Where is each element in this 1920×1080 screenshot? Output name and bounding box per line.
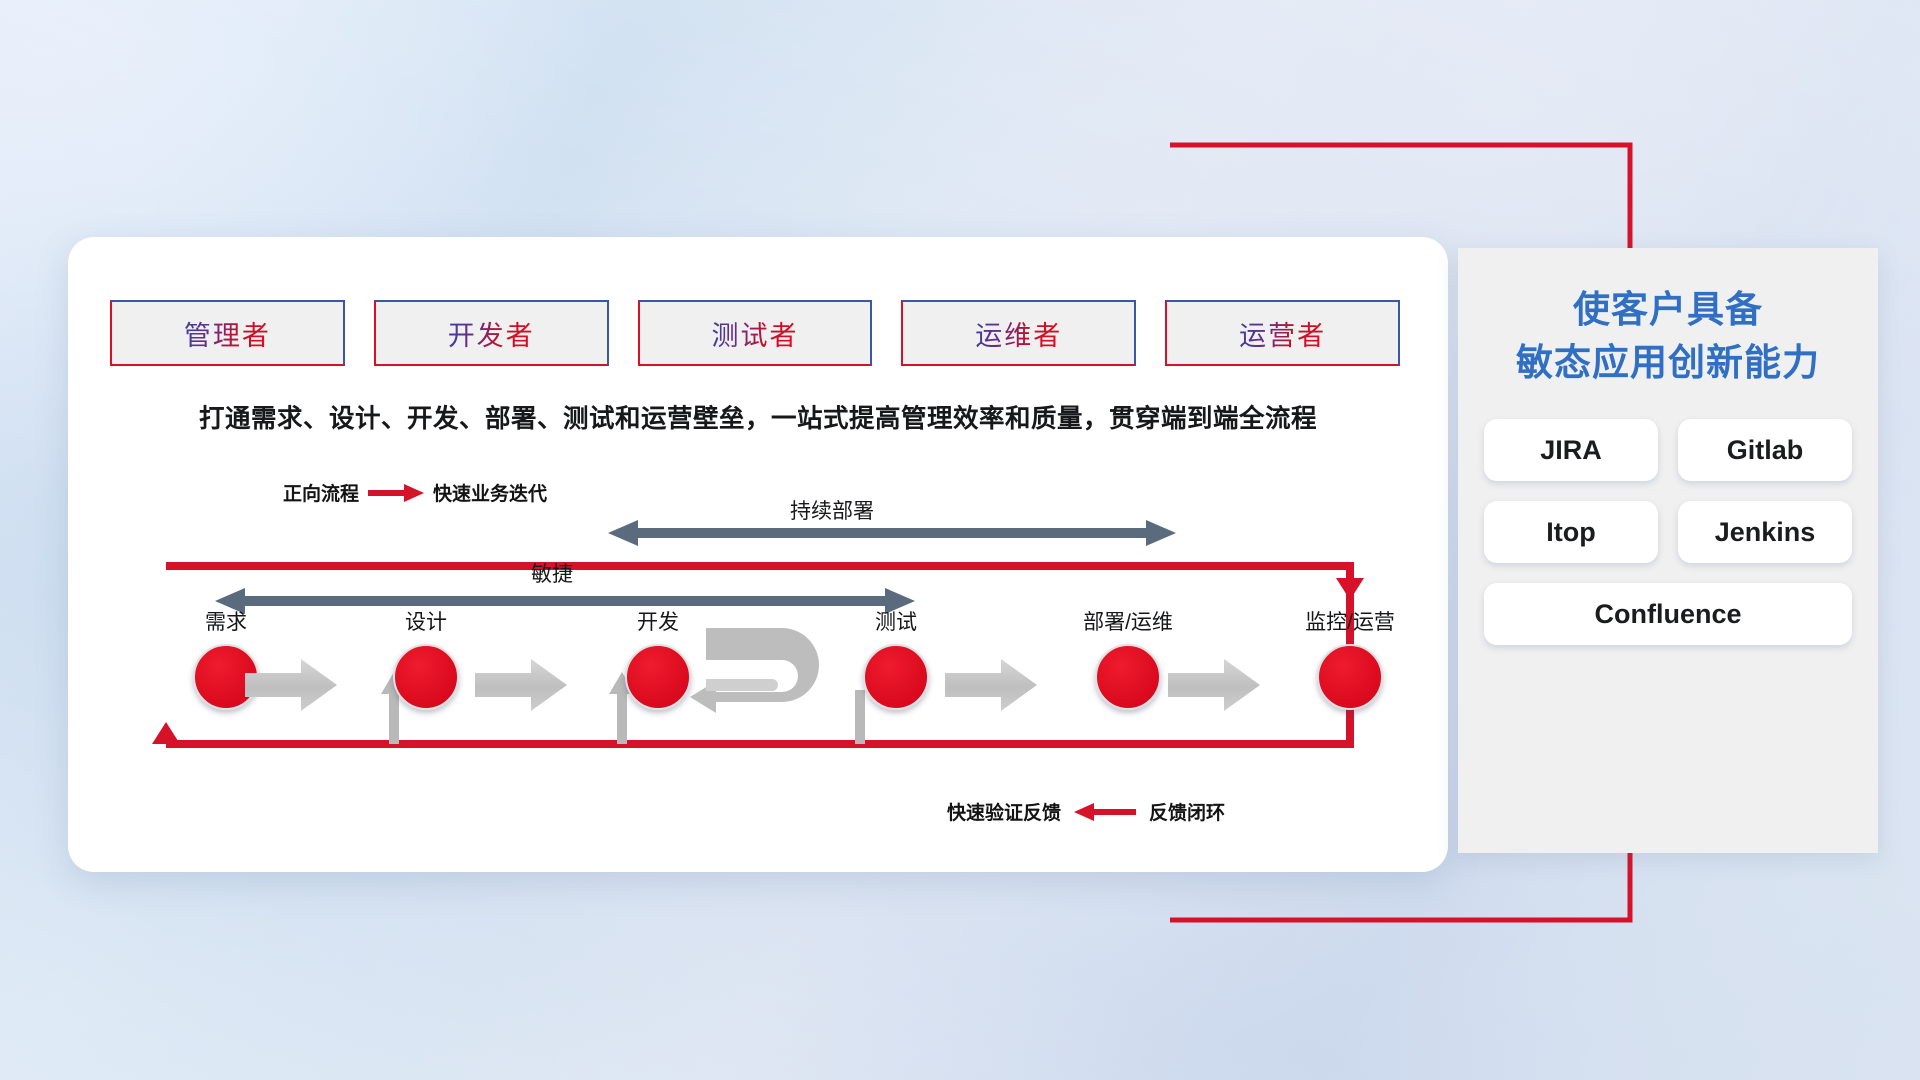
pipeline-stage-3[interactable]: 测试 xyxy=(836,612,956,710)
feedback-left-label: 快速验证反馈 xyxy=(947,798,1061,825)
stage-label: 测试 xyxy=(836,612,956,633)
stage-label: 开发 xyxy=(598,612,718,633)
tool-button-itop[interactable]: Itop xyxy=(1484,501,1658,563)
pipeline-stage-4[interactable]: 部署/运维 xyxy=(1068,612,1188,710)
role-label: 测试者 xyxy=(711,314,798,353)
tools-panel: 使客户具备 敏态应用创新能力 JIRA Gitlab Itop Jenkins … xyxy=(1458,248,1878,853)
role-box-3[interactable]: 运维者 xyxy=(901,300,1136,366)
stage-label: 需求 xyxy=(166,612,286,633)
tool-button-jenkins[interactable]: Jenkins xyxy=(1678,501,1852,563)
stage-dot xyxy=(393,644,459,710)
left-arrow-icon xyxy=(1074,802,1136,822)
tools-heading-line2: 敏态应用创新能力 xyxy=(1458,337,1878,390)
role-box-1[interactable]: 开发者 xyxy=(374,300,609,366)
stage-dot xyxy=(625,644,691,710)
pipeline-stage-5[interactable]: 监控/运营 xyxy=(1290,612,1410,710)
tools-heading-line1: 使客户具备 xyxy=(1573,289,1763,330)
right-arrow-icon xyxy=(368,483,424,503)
role-box-row: 管理者 开发者 测试者 运维者 运营者 xyxy=(110,300,1400,366)
pipeline-stage-2[interactable]: 开发 xyxy=(598,612,718,710)
stage-label: 监控/运营 xyxy=(1290,612,1410,633)
pipeline-stage-row: 需求 设计 开发 测试 部署/运维 监控/运营 xyxy=(68,612,1448,722)
stage-label: 设计 xyxy=(366,612,486,633)
role-label: 运维者 xyxy=(975,314,1062,353)
tool-button-jira[interactable]: JIRA xyxy=(1484,419,1658,481)
tool-button-confluence[interactable]: Confluence xyxy=(1484,583,1852,645)
stage-dot xyxy=(863,644,929,710)
feedback-loop-legend: 快速验证反馈 反馈闭环 xyxy=(947,798,1225,825)
stage-dot xyxy=(1317,644,1383,710)
continuous-deployment-label: 持续部署 xyxy=(790,495,874,525)
forward-flow-right-label: 快速业务迭代 xyxy=(433,479,547,506)
stage-label: 部署/运维 xyxy=(1068,612,1188,633)
role-label: 开发者 xyxy=(448,314,535,353)
pipeline-stage-1[interactable]: 设计 xyxy=(366,612,486,710)
forward-flow-legend: 正向流程 快速业务迭代 xyxy=(283,479,547,506)
tool-button-gitlab[interactable]: Gitlab xyxy=(1678,419,1852,481)
feedback-right-label: 反馈闭环 xyxy=(1149,798,1225,825)
role-box-2[interactable]: 测试者 xyxy=(638,300,873,366)
tools-panel-heading: 使客户具备 敏态应用创新能力 xyxy=(1458,248,1878,389)
stage-dot xyxy=(193,644,259,710)
description-text: 打通需求、设计、开发、部署、测试和运营壁垒，一站式提高管理效率和质量，贯穿端到端… xyxy=(68,398,1448,435)
agile-label: 敏捷 xyxy=(531,558,573,588)
role-label: 运营者 xyxy=(1239,314,1326,353)
pipeline-stage-0[interactable]: 需求 xyxy=(166,612,286,710)
stage-dot xyxy=(1095,644,1161,710)
role-box-4[interactable]: 运营者 xyxy=(1165,300,1400,366)
tool-button-grid: JIRA Gitlab Itop Jenkins Confluence xyxy=(1458,389,1878,645)
forward-flow-left-label: 正向流程 xyxy=(283,479,359,506)
role-label: 管理者 xyxy=(184,314,271,353)
role-box-0[interactable]: 管理者 xyxy=(110,300,345,366)
